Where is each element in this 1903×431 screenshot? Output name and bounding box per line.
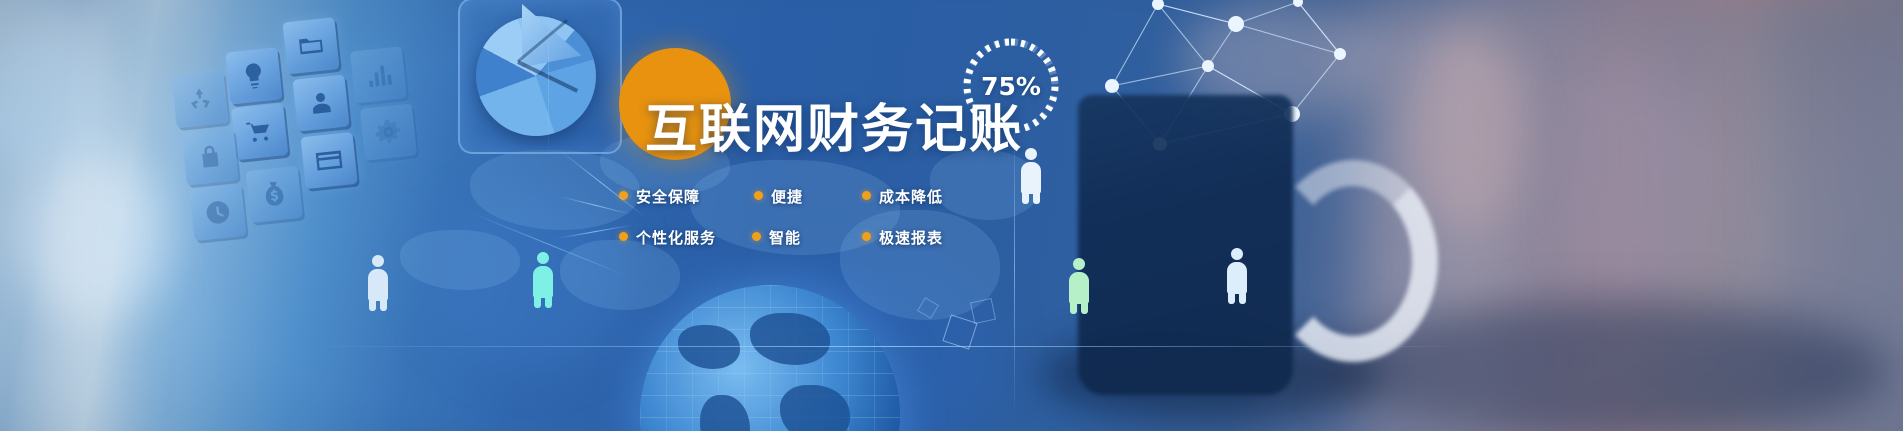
bar-chart-icon [362,58,395,91]
marketing-banner: 互联网财务记账 安全保障 便捷 成本降低 个性化服务 智能 极速报表 75% [0,0,1903,431]
feature-bullet-dot [862,191,871,200]
person-pictogram [528,252,558,310]
money-bag-icon [258,178,291,211]
lock-icon-tile [182,128,239,185]
pie-chart-panel [458,0,622,154]
clock-icon [201,196,234,229]
person-pictogram [1016,148,1046,206]
feature-bullet-dot [619,232,628,241]
clock-icon-tile [189,184,246,241]
credit-card-icon [313,144,346,177]
feature-item-2: 便捷 [771,186,803,207]
feature-item-5: 智能 [769,227,801,248]
lock-icon [194,140,227,173]
recycle-icon [184,83,217,116]
folder-icon-tile [282,17,339,74]
mug-body [1078,95,1293,395]
person-icon [305,87,338,120]
shopping-cart-icon [243,115,276,148]
folder-icon [295,29,328,62]
icon-cube-grid [157,0,428,233]
feature-item-3: 成本降低 [879,186,943,207]
feature-item-1: 安全保障 [636,186,700,207]
feature-bullet-dot [754,191,763,200]
feature-bullet-dot [862,232,871,241]
lightbulb-icon-tile [225,47,282,104]
person-pictogram [1064,258,1094,316]
bar-chart-icon-tile [350,46,407,103]
money-bag-icon-tile [246,166,303,223]
feature-item-4: 个性化服务 [636,227,716,248]
feature-item-6: 极速报表 [879,227,943,248]
person-pictogram [1222,248,1252,306]
credit-card-icon-tile [301,132,358,189]
feature-bullet-dot [752,232,761,241]
lightbulb-icon [237,59,270,92]
gear-icon-tile [360,104,417,161]
shopping-cart-icon-tile [231,103,288,160]
mug-handle [1268,160,1438,362]
gear-icon [372,116,405,149]
person-icon-tile [292,74,349,131]
person-pictogram [363,255,393,313]
recycle-icon-tile [171,71,228,128]
